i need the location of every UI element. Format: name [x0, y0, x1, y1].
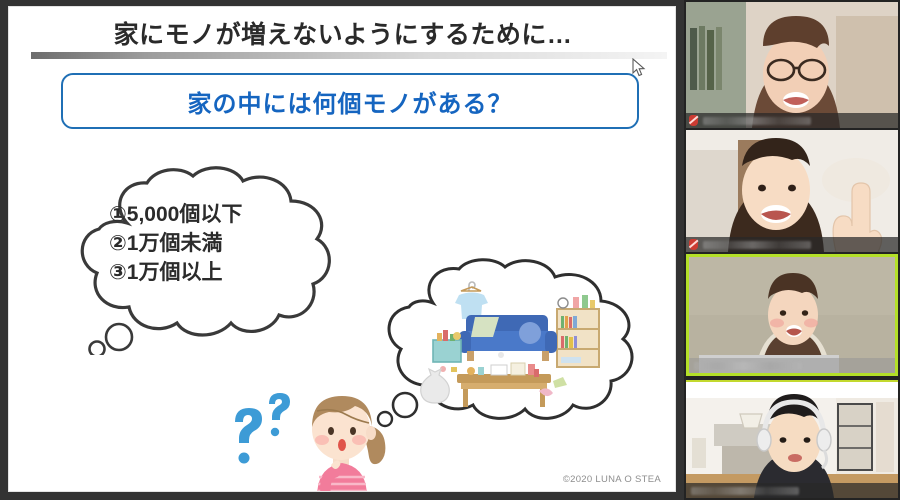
participant-tile-4[interactable] [686, 380, 898, 498]
options-thought-bubble: ①5,000個以下 ②1万個未満 ③1万個以上 [67, 165, 367, 355]
participant-name-bar-3 [689, 358, 895, 373]
page-title: 家にモノが増えないようにするために… [9, 15, 676, 51]
room-illustration-icon [371, 257, 646, 432]
participant-tile-3-active-speaker[interactable] [686, 254, 898, 376]
thinking-girl-illustration [287, 385, 397, 492]
option-item-3: ③1万個以上 [109, 259, 242, 288]
option-item-2: ②1万個未満 [109, 230, 242, 259]
question-box: 家の中には何個モノがある？ [61, 73, 639, 129]
participant-name-bar-2 [686, 237, 898, 252]
participant-video-panel [684, 0, 900, 500]
participant-name-2 [703, 241, 811, 249]
participant-name-bar-1 [686, 113, 898, 128]
room-thought-bubble [371, 257, 646, 432]
bookshelf-icon [557, 295, 599, 367]
presentation-slide: 家にモノが増えないようにするために… 家の中には何個モノがある？ ①5 [8, 6, 676, 492]
title-divider [31, 52, 667, 59]
participant-video-1 [686, 2, 898, 128]
copyright-text: ©2020 LUNA O STEA [563, 474, 661, 485]
arrow-pointer-cursor [632, 58, 646, 78]
participant-video-2 [686, 130, 898, 252]
microphone-muted-icon [689, 239, 698, 250]
screen-share-meeting-view: 家にモノが増えないようにするために… 家の中には何個モノがある？ ①5 [0, 0, 900, 500]
girl-character-icon [287, 385, 397, 492]
option-item-1: ①5,000個以下 [109, 201, 242, 230]
microphone-muted-icon [689, 115, 698, 126]
participant-tile-1[interactable] [686, 2, 898, 128]
shared-screen-region: 家にモノが増えないようにするために… 家の中には何個モノがある？ ①5 [0, 0, 684, 500]
participant-name-1 [703, 117, 811, 125]
question-text: 家の中には何個モノがある？ [188, 84, 513, 119]
participant-video-3 [689, 257, 895, 373]
participant-name-3 [694, 362, 802, 370]
participant-tile-2[interactable] [686, 130, 898, 252]
participant-name-4 [691, 487, 799, 495]
options-list: ①5,000個以下 ②1万個未満 ③1万個以上 [109, 201, 242, 288]
participant-video-4 [686, 382, 898, 498]
participant-name-bar-4 [686, 483, 898, 498]
